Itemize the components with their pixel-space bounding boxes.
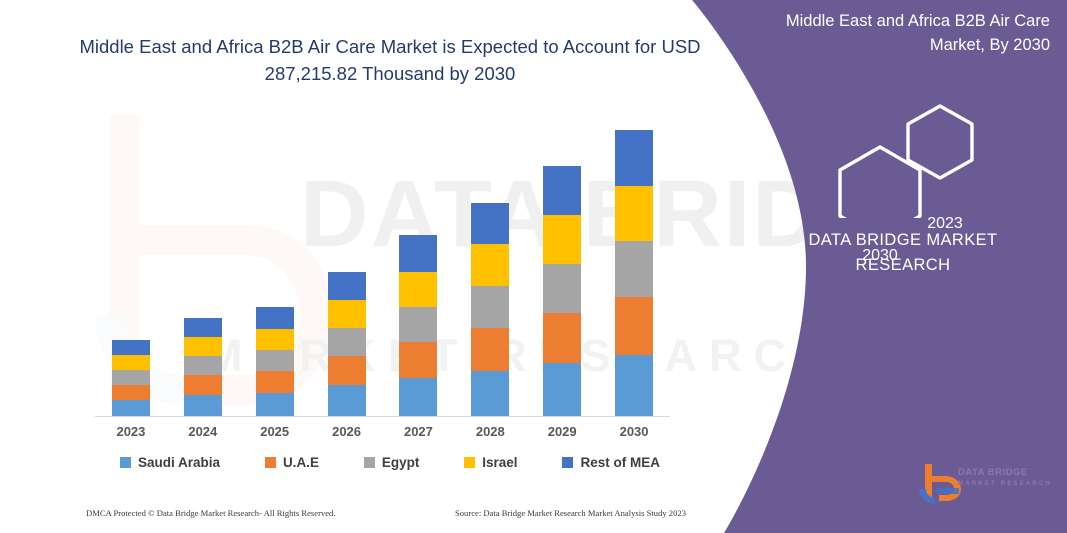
footer: DMCA Protected © Data Bridge Market Rese… <box>86 508 686 518</box>
bar-segment <box>184 318 222 337</box>
bar-segment <box>615 297 653 355</box>
stacked-bar <box>256 307 294 416</box>
legend-item[interactable]: Saudi Arabia <box>120 455 220 470</box>
panel-content: Middle East and Africa B2B Air Care Mark… <box>740 0 1067 533</box>
bar-column <box>167 112 238 416</box>
bar-segment <box>543 264 581 313</box>
bar-segment <box>615 241 653 297</box>
bar-segment <box>256 371 294 393</box>
x-axis-label: 2030 <box>599 424 670 439</box>
logo-text-sub: MARKET RESEARCH <box>958 480 1058 489</box>
legend-swatch-icon <box>265 457 276 468</box>
bar-segment <box>328 385 366 416</box>
bar-segment <box>399 307 437 342</box>
bar-segment <box>471 286 509 328</box>
brand-name: DATA BRIDGE MARKET RESEARCH <box>753 228 1053 278</box>
bar-segment <box>256 350 294 371</box>
bar-segment <box>328 328 366 356</box>
legend-label: Saudi Arabia <box>138 455 220 470</box>
bar-column <box>383 112 454 416</box>
bar-segment <box>471 371 509 416</box>
company-logo-text: DATA BRIDGE MARKET RESEARCH <box>958 466 1058 489</box>
bar-segment <box>471 328 509 371</box>
bar-segment <box>112 385 150 400</box>
brand-line-2: RESEARCH <box>856 256 951 274</box>
footer-source: Source: Data Bridge Market Research Mark… <box>455 508 686 518</box>
bar-segment <box>615 130 653 186</box>
bar-segment <box>112 400 150 416</box>
bar-segment <box>184 356 222 375</box>
bar-segment <box>471 203 509 244</box>
bar-segment <box>328 272 366 300</box>
chart-pane: DATA BRIDGE MARKET RESEARCH Middle East … <box>0 0 740 533</box>
bar-segment <box>399 378 437 416</box>
bar-column <box>311 112 382 416</box>
bar-segment <box>256 307 294 329</box>
stacked-bar <box>328 272 366 416</box>
bar-column <box>239 112 310 416</box>
bar-segment <box>184 337 222 356</box>
legend-swatch-icon <box>562 457 573 468</box>
hexagon-group: 2030 2023 <box>740 88 1067 198</box>
x-axis-labels: 20232024202520262027202820292030 <box>95 424 670 439</box>
bar-column <box>455 112 526 416</box>
legend-label: U.A.E <box>283 455 319 470</box>
bar-segment <box>543 166 581 215</box>
bar-segment <box>112 355 150 370</box>
bar-segment <box>471 244 509 286</box>
x-axis-label: 2028 <box>455 424 526 439</box>
bar-column <box>599 112 670 416</box>
stacked-bar <box>399 235 437 416</box>
bar-segment <box>256 329 294 350</box>
infographic-canvas: DATA BRIDGE MARKET RESEARCH Middle East … <box>0 0 1067 533</box>
x-axis-label: 2023 <box>95 424 166 439</box>
x-axis-line <box>95 416 670 417</box>
stacked-bar <box>543 166 581 416</box>
x-axis-label: 2024 <box>167 424 238 439</box>
bar-segment <box>543 363 581 416</box>
legend-label: Rest of MEA <box>580 455 660 470</box>
stacked-bar <box>112 340 150 416</box>
bar-segment <box>328 300 366 328</box>
bar-segment <box>184 375 222 395</box>
legend-item[interactable]: U.A.E <box>265 455 319 470</box>
brand-line-1: DATA BRIDGE MARKET <box>808 231 997 249</box>
chart-title: Middle East and Africa B2B Air Care Mark… <box>70 34 710 88</box>
legend-item[interactable]: Israel <box>464 455 517 470</box>
bar-segment <box>615 186 653 241</box>
x-axis-label: 2029 <box>527 424 598 439</box>
footer-copyright: DMCA Protected © Data Bridge Market Rese… <box>86 508 336 518</box>
legend-label: Israel <box>482 455 517 470</box>
x-axis-label: 2025 <box>239 424 310 439</box>
bar-segment <box>399 342 437 378</box>
bar-segment <box>112 370 150 385</box>
bar-column <box>527 112 598 416</box>
bar-segment <box>615 355 653 416</box>
bar-segment <box>112 340 150 355</box>
chart-legend: Saudi ArabiaU.A.EEgyptIsraelRest of MEA <box>120 455 660 470</box>
stacked-bar <box>184 318 222 416</box>
legend-label: Egypt <box>382 455 420 470</box>
logo-text-main: DATA BRIDGE <box>958 466 1058 480</box>
legend-swatch-icon <box>120 457 131 468</box>
panel-title: Middle East and Africa B2B Air Care Mark… <box>757 10 1050 58</box>
legend-swatch-icon <box>464 457 475 468</box>
legend-item[interactable]: Egypt <box>364 455 420 470</box>
hexagon-outlines <box>740 88 1067 218</box>
bar-segment <box>256 393 294 416</box>
stacked-bar <box>615 130 653 416</box>
bar-segment <box>184 395 222 416</box>
x-axis-label: 2027 <box>383 424 454 439</box>
bar-segment <box>543 313 581 363</box>
legend-swatch-icon <box>364 457 375 468</box>
bar-segment <box>543 215 581 264</box>
x-axis-label: 2026 <box>311 424 382 439</box>
stacked-bar <box>471 203 509 416</box>
bar-segment <box>399 235 437 272</box>
bar-segment <box>328 356 366 385</box>
stacked-bar-chart <box>95 112 670 416</box>
legend-item[interactable]: Rest of MEA <box>562 455 660 470</box>
bar-segment <box>399 272 437 307</box>
bar-column <box>95 112 166 416</box>
